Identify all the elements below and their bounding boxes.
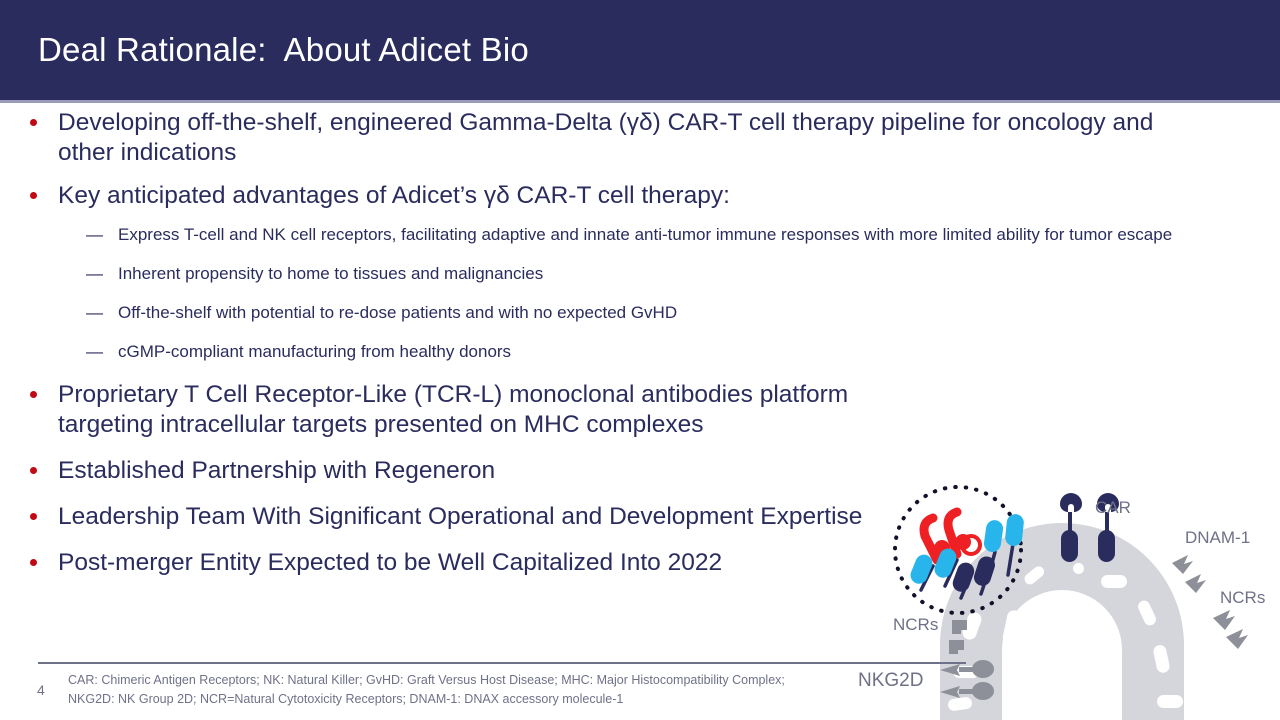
sub-bullet-item: — cGMP-compliant manufacturing from heal… [0,341,1280,363]
bullet-text: Developing off-the-shelf, engineered Gam… [58,109,1153,166]
label-dnam1: DNAM-1 [1185,528,1250,548]
em-dash-icon: — [86,302,103,324]
em-dash-icon: — [86,224,103,246]
bullet-text: Leadership Team With Significant Operati… [58,503,862,530]
bullet-item: Proprietary T Cell Receptor-Like (TCR-L)… [0,380,1280,440]
bullet-dot-icon [30,467,37,474]
bullet-dot-icon [30,192,37,199]
label-ncrs-left: NCRs [893,615,938,635]
sub-bullet-list: — Express T-cell and NK cell receptors, … [0,224,1280,363]
label-nkg2d: NKG2D [858,670,923,692]
sub-bullet-text: Express T-cell and NK cell receptors, fa… [118,225,1172,244]
bullet-item: Key anticipated advantages of Adicet’s γ… [0,181,1280,211]
footnote-text: CAR: Chimeric Antigen Receptors; NK: Nat… [68,671,828,709]
label-ncrs-right: NCRs [1220,588,1265,608]
bullet-text: Post-merger Entity Expected to be Well C… [58,549,722,576]
bullet-text: Key anticipated advantages of Adicet’s γ… [58,182,730,209]
dnam1-receptor-icon [1172,555,1206,593]
page-number: 4 [37,682,45,698]
bullet-dot-icon [30,559,37,566]
em-dash-icon: — [86,341,103,363]
ncrs-receptor-icon-right [1213,610,1248,649]
sub-bullet-text: Inherent propensity to home to tissues a… [118,264,543,283]
footer-divider [38,662,966,664]
em-dash-icon: — [86,263,103,285]
sub-bullet-item: — Inherent propensity to home to tissues… [0,263,1280,285]
bullet-dot-icon [30,391,37,398]
bullet-dot-icon [30,513,37,520]
sub-bullet-item: — Express T-cell and NK cell receptors, … [0,224,1280,246]
bullet-text: Proprietary T Cell Receptor-Like (TCR-L)… [58,381,848,438]
sub-bullet-text: cGMP-compliant manufacturing from health… [118,342,511,361]
bullet-item: Developing off-the-shelf, engineered Gam… [0,108,1280,168]
sub-bullet-item: — Off-the-shelf with potential to re-dos… [0,302,1280,324]
sub-bullet-text: Off-the-shelf with potential to re-dose … [118,303,677,322]
slide: Deal Rationale: About Adicet Bio Develop… [0,0,1280,720]
title-band-underline [0,100,1280,103]
page-title: Deal Rationale: About Adicet Bio [38,31,529,69]
gamma-delta-cell-diagram: CAR DNAM-1 NCRs NCRs NKG2D [845,470,1280,720]
bullet-dot-icon [30,119,37,126]
bullet-text: Established Partnership with Regeneron [58,457,495,484]
label-car: CAR [1095,498,1131,518]
